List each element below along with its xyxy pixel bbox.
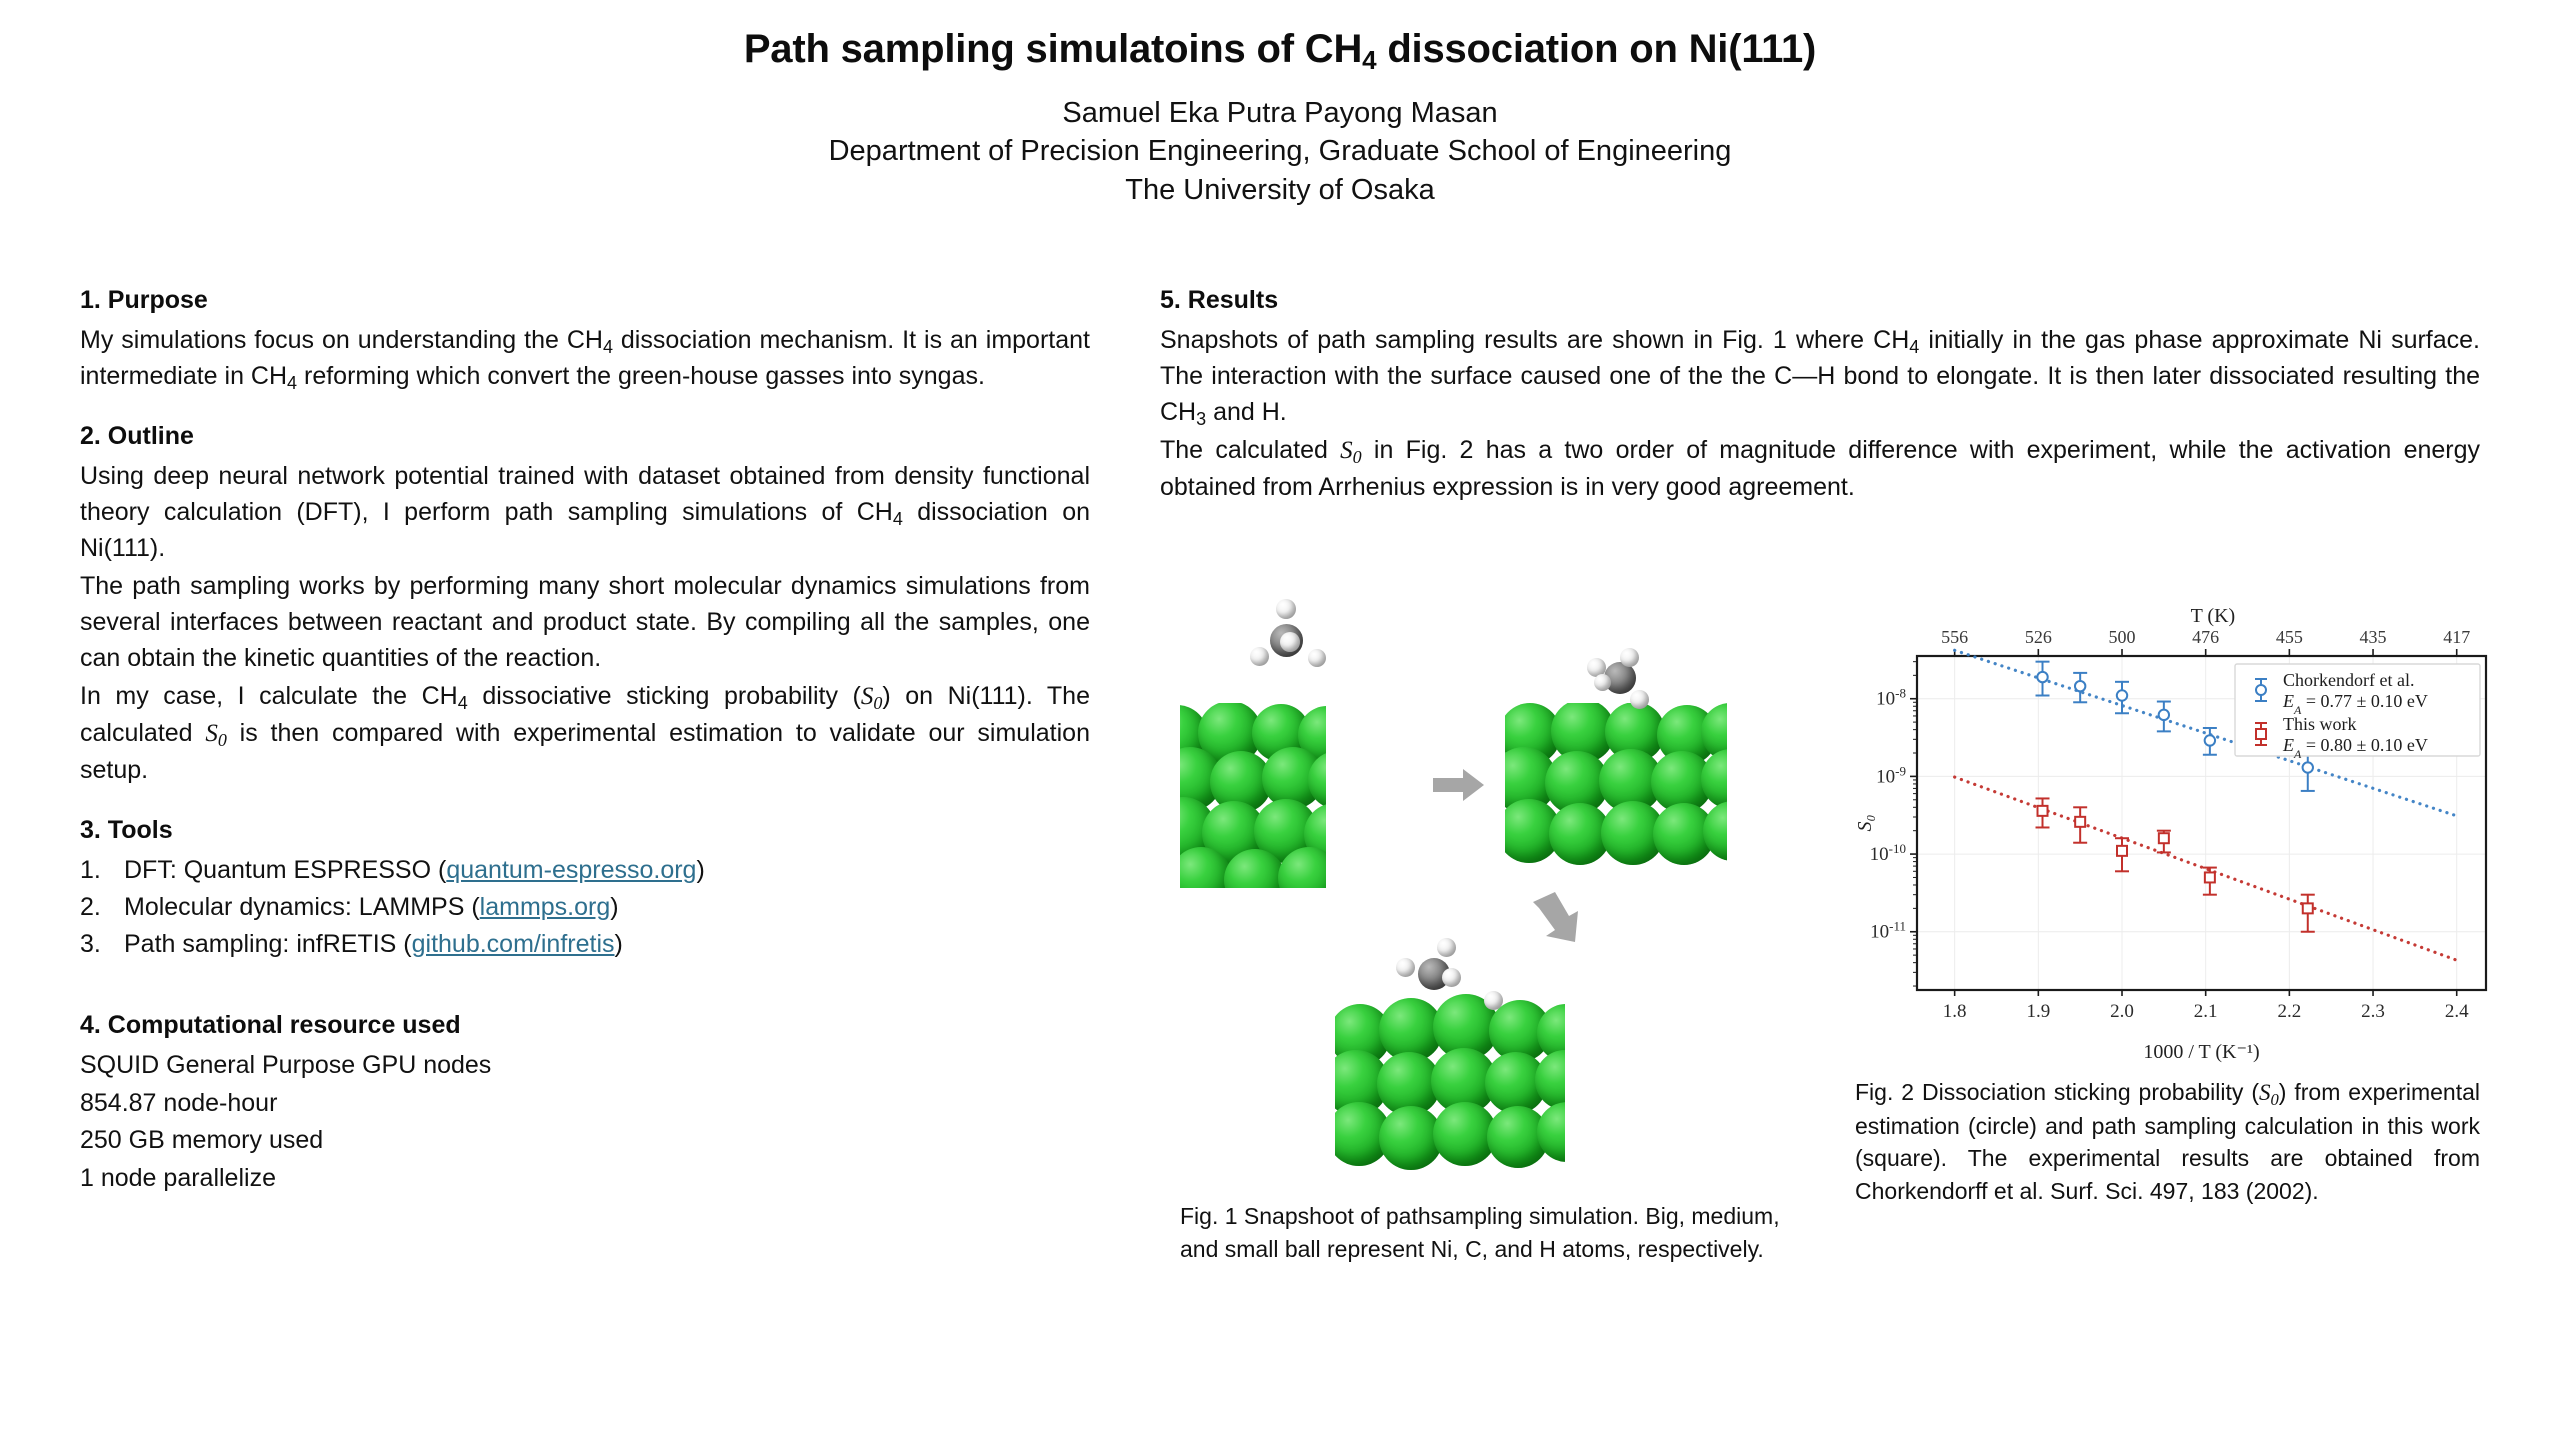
outline-paragraph-1: Using deep neural network potential trai… [80, 458, 1090, 566]
fig2-caption-a: Fig. 2 Dissociation sticking probability… [1855, 1079, 2259, 1105]
tool-tail-1: ) [610, 893, 618, 921]
s0-symbol-a: S [861, 683, 874, 710]
outline3-sub-1: 4 [458, 693, 468, 713]
section-heading-resources: 4. Computational resource used [80, 1011, 1090, 1040]
tool-tail-2: ) [615, 930, 623, 958]
s0-subscript-results: 0 [1353, 447, 1362, 467]
right-column: 5. Results Snapshots of path sampling re… [1160, 286, 2480, 507]
spacer [80, 963, 1090, 1011]
y-tick-label: 10-8 [1876, 685, 1906, 710]
list-item-number: 1. [80, 852, 110, 889]
x-axis-label: 1000 / T (K⁻¹) [2143, 1041, 2259, 1063]
results2-text-a: The calculated [1160, 436, 1340, 464]
results2-text-b: in Fig. 2 has a two order of magnitude d… [1160, 436, 2480, 501]
y-tick-label: 10-10 [1870, 841, 1906, 866]
outline3-text-d: is then compared with experimental estim… [80, 719, 1090, 784]
spacer [80, 790, 1090, 816]
chart-legend: Chorkendorf et al.EA = 0.77 ± 0.10 eVThi… [2235, 664, 2480, 761]
results-text-a: Snapshots of path sampling results are s… [1160, 326, 1909, 354]
top-axis-tick-label: 435 [2360, 627, 2387, 647]
results-sub-2: 3 [1196, 409, 1206, 429]
list-item-content: Path sampling: infRETIS (github.com/infr… [124, 926, 623, 963]
tool-label-1: Molecular dynamics: LAMMPS ( [124, 893, 480, 921]
x-tick-label: 2.4 [2445, 1001, 2469, 1022]
list-item: 1. DFT: Quantum ESPRESSO (quantum-espres… [80, 852, 1090, 889]
x-tick-label: 2.1 [2194, 1001, 2218, 1022]
outline-paragraph-2: The path sampling works by performing ma… [80, 568, 1090, 676]
y-tick-label: 10-9 [1876, 763, 1906, 788]
section-heading-outline: 2. Outline [80, 422, 1090, 451]
purpose-text-a: My simulations focus on understanding th… [80, 326, 603, 354]
purpose-paragraph: My simulations focus on understanding th… [80, 322, 1090, 394]
top-axis-tick-label: 500 [2109, 627, 2136, 647]
list-item-content: Molecular dynamics: LAMMPS (lammps.org) [124, 889, 619, 926]
x-tick-label: 1.9 [2026, 1001, 2050, 1022]
results-sub-1: 4 [1909, 337, 1919, 357]
title-text-a: Path sampling simulatoins of CH [744, 27, 1362, 71]
top-axis-label: T (K) [2191, 605, 2236, 627]
s0-subscript-b: 0 [218, 730, 227, 750]
tool-link-quantum-espresso[interactable]: quantum-espresso.org [446, 856, 696, 884]
resource-line-memory: 250 GB memory used [80, 1122, 1090, 1160]
resource-line-node-hours: 854.87 node-hour [80, 1085, 1090, 1123]
s0-symbol-b: S [205, 720, 218, 747]
author-name: Samuel Eka Putra Payong Masan [0, 94, 2560, 132]
figure-2: 1.81.92.02.12.22.32.45565265004764554354… [1855, 598, 2500, 1298]
purpose-sub-1: 4 [603, 337, 613, 357]
section-heading-results: 5. Results [1160, 286, 2480, 315]
top-axis-tick-label: 556 [1941, 627, 1968, 647]
s0-symbol-fig2: S [2259, 1080, 2271, 1105]
title-subscript: 4 [1362, 45, 1376, 75]
legend-entry-name: This work [2283, 714, 2357, 734]
top-axis-tick-label: 455 [2276, 627, 2303, 647]
purpose-text-c: reforming which convert the green-house … [297, 362, 985, 390]
x-tick-label: 2.0 [2110, 1001, 2134, 1022]
outline3-text-a: In my case, I calculate the CH [80, 682, 458, 710]
x-tick-label: 2.2 [2277, 1001, 2301, 1022]
figure-1-caption: Fig. 1 Snapshoot of pathsampling simulat… [1180, 1200, 1780, 1265]
results-text-c: and H. [1206, 398, 1287, 426]
snapshot-panel-adsorbed [1505, 703, 1727, 868]
y-tick-label: 10-11 [1870, 918, 1906, 943]
snapshot-panel-gas-phase [1180, 703, 1326, 888]
poster-header: Path sampling simulatoins of CH4 dissoci… [0, 0, 2560, 209]
figure-2-caption: Fig. 2 Dissociation sticking probability… [1855, 1076, 2480, 1208]
legend-entry-name: Chorkendorf et al. [2283, 670, 2414, 690]
list-item: 3. Path sampling: infRETIS (github.com/i… [80, 926, 1090, 963]
section-heading-tools: 3. Tools [80, 816, 1090, 845]
list-item-content: DFT: Quantum ESPRESSO (quantum-espresso.… [124, 852, 705, 889]
snapshot-panel-dissociated [1335, 990, 1565, 1185]
left-column: 1. Purpose My simulations focus on under… [80, 286, 1090, 1197]
arrow-right-icon [1433, 768, 1485, 802]
list-item: 2. Molecular dynamics: LAMMPS (lammps.or… [80, 889, 1090, 926]
s0-subscript-a: 0 [873, 693, 882, 713]
affiliation-university: The University of Osaka [0, 171, 2560, 209]
resource-line-parallelize: 1 node parallelize [80, 1160, 1090, 1198]
spacer [80, 396, 1090, 422]
x-tick-label: 1.8 [1943, 1001, 1967, 1022]
arrhenius-chart-svg: 1.81.92.02.12.22.32.45565265004764554354… [1855, 598, 2500, 1068]
top-axis-tick-label: 476 [2192, 627, 2219, 647]
chart-arrhenius-plot: 1.81.92.02.12.22.32.45565265004764554354… [1855, 598, 2500, 1068]
list-item-number: 3. [80, 926, 110, 963]
outline-paragraph-3: In my case, I calculate the CH4 dissocia… [80, 678, 1090, 788]
results-paragraph-1: Snapshots of path sampling results are s… [1160, 322, 2480, 430]
top-axis-tick-label: 417 [2443, 627, 2470, 647]
tool-tail-0: ) [696, 856, 704, 884]
x-tick-label: 2.3 [2361, 1001, 2385, 1022]
outline-sub-1: 4 [893, 509, 903, 529]
outline3-text-b: dissociative sticking probability ( [468, 682, 861, 710]
tool-label-2: Path sampling: infRETIS ( [124, 930, 412, 958]
title-text-b: dissociation on Ni(111) [1376, 27, 1816, 71]
purpose-sub-2: 4 [287, 373, 297, 393]
resource-line-nodes: SQUID General Purpose GPU nodes [80, 1047, 1090, 1085]
s0-subscript-fig2: 0 [2271, 1090, 2279, 1109]
tool-link-infretis[interactable]: github.com/infretis [412, 930, 615, 958]
affiliation-department: Department of Precision Engineering, Gra… [0, 132, 2560, 170]
top-axis-tick-label: 526 [2025, 627, 2052, 647]
figure-1: Fig. 1 Snapshoot of pathsampling simulat… [1180, 590, 1800, 1320]
arrow-down-right-icon [1525, 890, 1585, 948]
tool-link-lammps[interactable]: lammps.org [480, 893, 611, 921]
s0-symbol-results: S [1340, 437, 1353, 464]
tools-list: 1. DFT: Quantum ESPRESSO (quantum-espres… [80, 852, 1090, 963]
results-paragraph-2: The calculated S0 in Fig. 2 has a two or… [1160, 432, 2480, 505]
y-axis-label: S₀ [1855, 814, 1876, 831]
section-heading-purpose: 1. Purpose [80, 286, 1090, 315]
list-item-number: 2. [80, 889, 110, 926]
tool-label-0: DFT: Quantum ESPRESSO ( [124, 856, 446, 884]
page-title: Path sampling simulatoins of CH4 dissoci… [0, 26, 2560, 72]
figure-1-canvas [1180, 590, 1800, 1190]
